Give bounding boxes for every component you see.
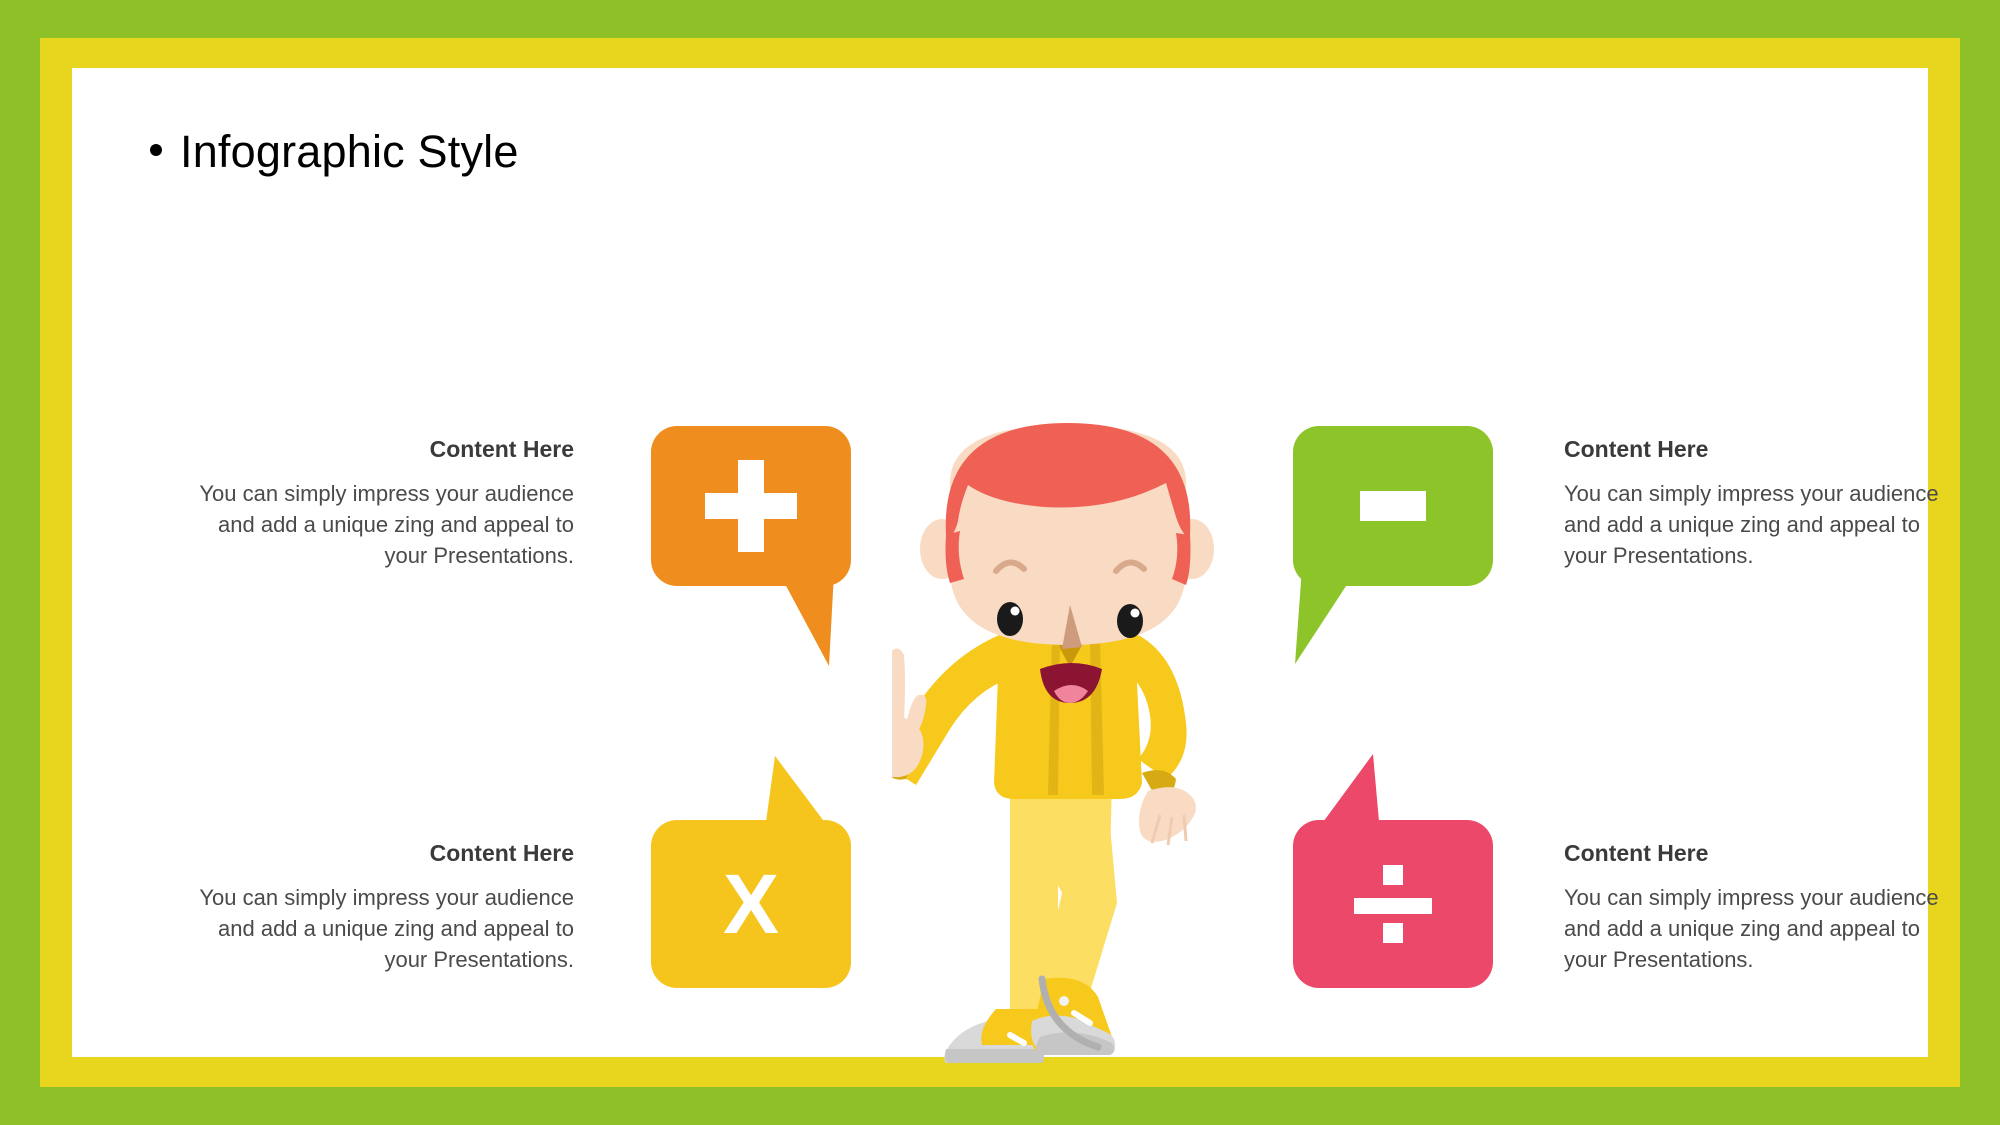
slide-canvas: Infographic Style Content Here You can s…: [72, 68, 1928, 1057]
slide-outer-border: Infographic Style Content Here You can s…: [0, 0, 2000, 1125]
content-block-bottom-left: Content Here You can simply impress your…: [184, 840, 574, 976]
multiply-icon: X: [651, 820, 851, 988]
open-hand: [1139, 787, 1196, 845]
shoe-back: [944, 1009, 1044, 1063]
speech-bubble-multiply[interactable]: X: [651, 820, 851, 988]
page-title: Infographic Style: [150, 126, 519, 178]
minus-icon: [1293, 426, 1493, 586]
content-body: You can simply impress your audience and…: [1564, 478, 1954, 572]
plus-icon: [651, 426, 851, 586]
boy-pointing-up-illustration: [892, 423, 1252, 1063]
content-block-bottom-right: Content Here You can simply impress your…: [1564, 840, 1954, 976]
speech-bubble-plus[interactable]: [651, 426, 851, 586]
content-heading: Content Here: [184, 436, 574, 463]
content-heading: Content Here: [184, 840, 574, 867]
page-title-text: Infographic Style: [180, 126, 519, 178]
divide-icon: [1293, 820, 1493, 988]
content-body: You can simply impress your audience and…: [1564, 882, 1954, 976]
content-block-top-left: Content Here You can simply impress your…: [184, 436, 574, 572]
content-heading: Content Here: [1564, 436, 1954, 463]
speech-bubble-divide[interactable]: [1293, 820, 1493, 988]
content-block-top-right: Content Here You can simply impress your…: [1564, 436, 1954, 572]
multiply-glyph: X: [723, 862, 779, 946]
slide-inner-border: Infographic Style Content Here You can s…: [40, 38, 1960, 1087]
speech-bubble-minus[interactable]: [1293, 426, 1493, 586]
bullet-dot-icon: [150, 144, 162, 156]
content-heading: Content Here: [1564, 840, 1954, 867]
content-body: You can simply impress your audience and…: [184, 882, 574, 976]
content-body: You can simply impress your audience and…: [184, 478, 574, 572]
